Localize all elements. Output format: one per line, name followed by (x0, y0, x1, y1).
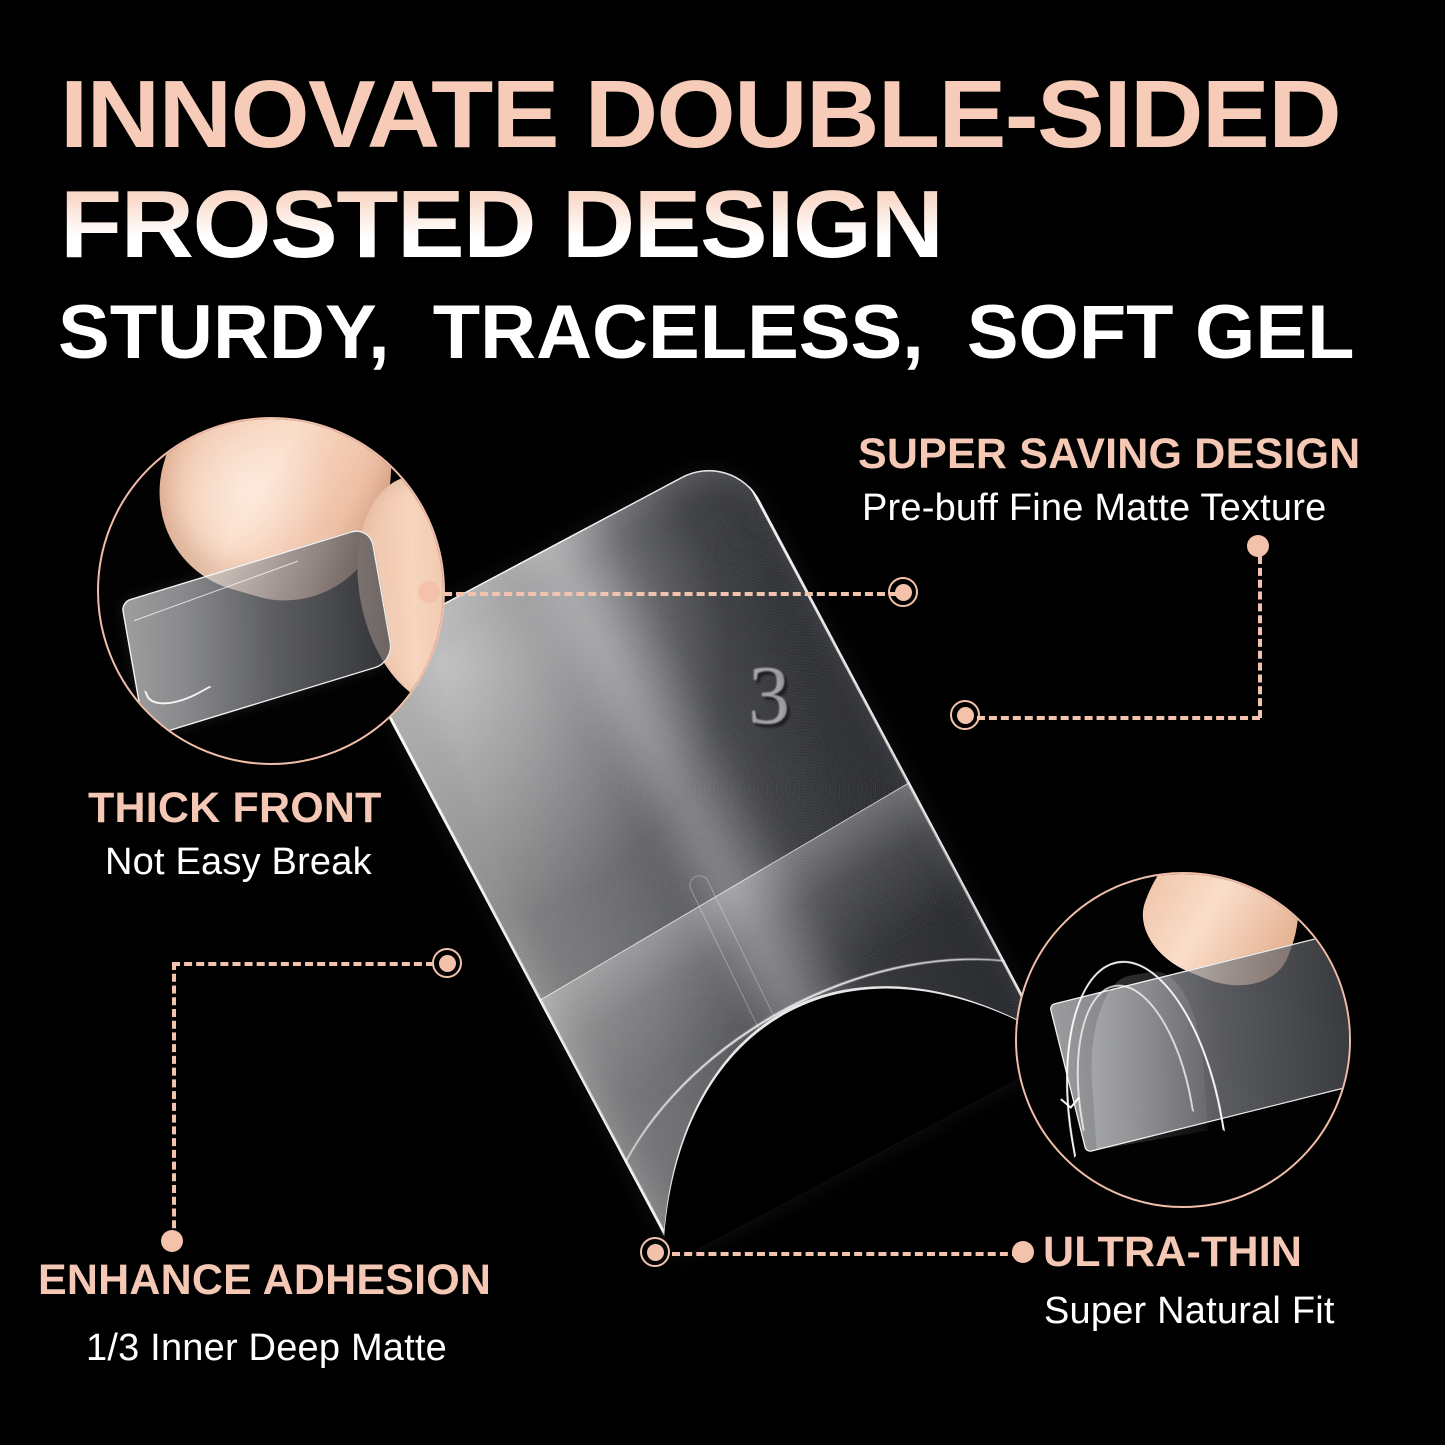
connector-dot-ultra-thin-target (640, 1237, 670, 1267)
connector-dot-super-saving-target (950, 700, 980, 730)
connector-enhance-adhesion-horizontal (172, 962, 434, 966)
connector-super-saving-horizontal (965, 716, 1260, 720)
callout-subtitle-enhance-adhesion: 1/3 Inner Deep Matte (86, 1327, 447, 1370)
headline-line-3: STURDY, TRACELESS, SOFT GEL (58, 296, 1354, 370)
callout-subtitle-thick-front: Not Easy Break (105, 841, 372, 884)
callout-subtitle-super-saving-design: Pre-buff Fine Matte Texture (862, 487, 1326, 530)
connector-dot-enhance-adhesion-target (432, 948, 462, 978)
callout-title-enhance-adhesion: ENHANCE ADHESION (38, 1256, 491, 1305)
connector-dot-thick-front-target (888, 577, 918, 607)
specular-highlight (492, 494, 941, 1204)
connector-ultra-thin-horizontal (672, 1252, 1020, 1256)
headline-line-2: FROSTED DESIGN (60, 178, 942, 272)
connector-dot-thick-front-source (418, 581, 440, 603)
inset-thick-front-photo (97, 417, 445, 765)
callout-subtitle-ultra-thin: Super Natural Fit (1044, 1290, 1335, 1333)
thickness-curl-indicator (144, 660, 212, 718)
connector-dot-enhance-adhesion-source (161, 1230, 183, 1252)
nail-tip-product: 3 (353, 449, 1057, 1260)
matte-band-boundary (529, 779, 980, 1118)
connector-enhance-adhesion-vertical (172, 962, 176, 1240)
infographic-canvas: INNOVATE DOUBLE-SIDED FROSTED DESIGN STU… (0, 0, 1445, 1445)
headline-line-1: INNOVATE DOUBLE-SIDED (60, 68, 1340, 162)
nail-tip-right-edge (738, 464, 1053, 1055)
nail-tip-left-edge (362, 664, 677, 1255)
size-number-emboss: 3 (750, 649, 792, 746)
inner-curve-cutout (521, 868, 1056, 1260)
center-groove-line (686, 872, 835, 1150)
frosted-texture-overlay (353, 449, 1057, 1260)
callout-title-super-saving-design: SUPER SAVING DESIGN (858, 430, 1360, 479)
inset-ultra-thin-photo (1015, 872, 1351, 1208)
connector-thick-front (432, 592, 897, 596)
connector-dot-super-saving-source (1247, 535, 1269, 557)
callout-title-ultra-thin: ULTRA-THIN (1043, 1228, 1302, 1277)
nail-tip-body (353, 449, 1057, 1260)
connector-dot-ultra-thin-source (1012, 1241, 1034, 1263)
connector-super-saving-vertical (1258, 556, 1262, 718)
callout-title-thick-front: THICK FRONT (88, 784, 382, 833)
